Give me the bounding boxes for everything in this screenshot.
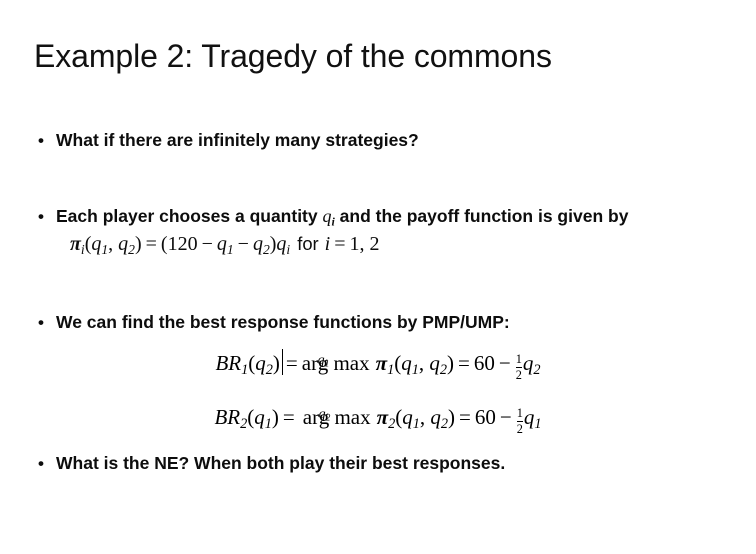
payoff-function-formula: πi(q1, q2)=(120−q1−q2)qifori=1, 2	[56, 230, 734, 258]
text-cursor-caret	[282, 349, 283, 375]
bullet-marker-icon: •	[38, 310, 44, 335]
payoff-args-comma: ,	[108, 233, 118, 255]
equation-br2: BR2(q1)=arg maxq2π2(q1, q2)=60−12q1	[0, 390, 756, 444]
br2-fn-arg2-subscript: 2	[441, 416, 448, 432]
bullet-marker-icon: •	[38, 128, 44, 153]
br1-result-variable: q	[523, 351, 534, 375]
br1-fn-arg1-subscript: 1	[412, 362, 419, 378]
br2-argument-subscript: 1	[265, 416, 272, 432]
payoff-arg2: q	[118, 233, 128, 255]
br2-fn-arg1: q	[402, 405, 413, 429]
payoff-constant-120: 120	[168, 233, 198, 255]
bullet-item-2: • Each player chooses a quantity qi and …	[34, 204, 734, 258]
br1-argument-subscript: 2	[266, 362, 273, 378]
payoff-multiplier-q-subscript: i	[286, 242, 290, 257]
br2-argmax-underscript: q2	[304, 407, 344, 421]
payoff-term-q1: q	[217, 233, 227, 255]
best-response-equations: BR1(q2)=arg maxq1π1(q1, q2)=60−12q2 BR2(…	[0, 336, 756, 444]
payoff-term-q1-subscript: 1	[227, 242, 234, 257]
bullet-item-1: • What if there are infinitely many stra…	[34, 128, 734, 153]
br1-value-60: 60	[474, 351, 495, 375]
equation-br1: BR1(q2)=arg maxq1π1(q1, q2)=60−12q2	[0, 336, 756, 390]
payoff-term-q2-subscript: 2	[263, 242, 270, 257]
br1-fraction-numerator: 1	[516, 353, 522, 366]
payoff-pi-symbol: π	[70, 233, 81, 255]
br1-minus-sign: −	[499, 351, 511, 375]
payoff-index-variable: i	[325, 233, 331, 255]
br2-argmax-underscript-var: q	[319, 406, 326, 421]
payoff-multiplier-q: q	[276, 233, 286, 255]
bullet-item-2-text-before: Each player chooses a quantity	[56, 206, 322, 226]
br2-argument: q	[254, 405, 265, 429]
payoff-rhs-open-paren: (	[161, 233, 168, 255]
br1-fn-arg2-subscript: 2	[440, 362, 447, 378]
br1-argmax-underscript: q1	[303, 353, 343, 367]
bullet-item-3: • We can find the best response function…	[34, 310, 734, 335]
br2-second-equals-sign: =	[459, 405, 471, 429]
bullet-marker-icon: •	[38, 204, 44, 229]
br2-result-variable-subscript: 1	[534, 416, 541, 432]
br2-equals-sign: =	[283, 405, 295, 429]
br2-close-paren: )	[272, 405, 279, 429]
payoff-term-q2: q	[253, 233, 263, 255]
br1-argument: q	[255, 351, 266, 375]
br1-argmax-underscript-var: q	[318, 352, 325, 367]
br2-fn-comma: ,	[420, 405, 431, 429]
payoff-args-close-paren: )	[135, 233, 142, 255]
br2-fraction-numerator: 1	[517, 407, 523, 420]
bullet-item-3-label: We can find the best response functions …	[56, 312, 510, 332]
page-title: Example 2: Tragedy of the commons	[34, 36, 724, 76]
br2-fraction-one-half: 12	[517, 407, 523, 435]
slide-canvas: Example 2: Tragedy of the commons • What…	[0, 0, 756, 554]
br1-fn-arg2: q	[429, 351, 440, 375]
br2-fn-arg2: q	[430, 405, 441, 429]
payoff-minus-1: −	[202, 233, 213, 255]
br1-fn-close-paren: )	[447, 351, 454, 375]
br1-second-equals-sign: =	[458, 351, 470, 375]
bullet-item-1-label: What if there are infinitely many strate…	[56, 130, 419, 150]
br2-fraction-denominator: 2	[517, 423, 523, 436]
br1-argmax-underscript-subscript: 1	[325, 360, 330, 370]
br1-fn-comma: ,	[419, 351, 430, 375]
br1-equals-sign: =	[286, 351, 298, 375]
br2-label: BR	[214, 405, 240, 429]
br1-close-paren: )	[273, 351, 280, 375]
br1-fn-arg1: q	[401, 351, 412, 375]
payoff-arg2-subscript: 2	[128, 242, 135, 257]
br2-value-60: 60	[475, 405, 496, 429]
br1-argmax-operator: arg maxq1	[302, 336, 370, 390]
bullet-item-2-text-after: and the payoff function is given by	[335, 206, 629, 226]
payoff-index-equals: =	[334, 233, 345, 255]
bullet-item-4: • What is the NE? When both play their b…	[34, 451, 734, 476]
br1-pi-symbol: π	[376, 351, 387, 375]
br2-minus-sign: −	[500, 405, 512, 429]
br2-pi-symbol: π	[377, 405, 388, 429]
bullet-item-4-label: What is the NE? When both play their bes…	[56, 453, 505, 473]
payoff-for-text: for	[297, 233, 318, 254]
br1-result-variable-subscript: 2	[533, 362, 540, 378]
br2-argmax-underscript-subscript: 2	[326, 414, 331, 424]
br2-result-variable: q	[524, 405, 535, 429]
payoff-minus-2: −	[238, 233, 249, 255]
payoff-arg1: q	[91, 233, 101, 255]
br1-fraction-one-half: 12	[516, 353, 522, 381]
br2-argmax-operator: arg maxq2	[303, 390, 371, 444]
payoff-index-values: 1, 2	[350, 233, 380, 255]
br1-fraction-denominator: 2	[516, 369, 522, 382]
br2-fn-close-paren: )	[448, 405, 455, 429]
bullet-marker-icon: •	[38, 451, 44, 476]
payoff-equals-sign: =	[146, 233, 157, 255]
br1-label: BR	[215, 351, 241, 375]
br2-fn-arg1-subscript: 1	[413, 416, 420, 432]
